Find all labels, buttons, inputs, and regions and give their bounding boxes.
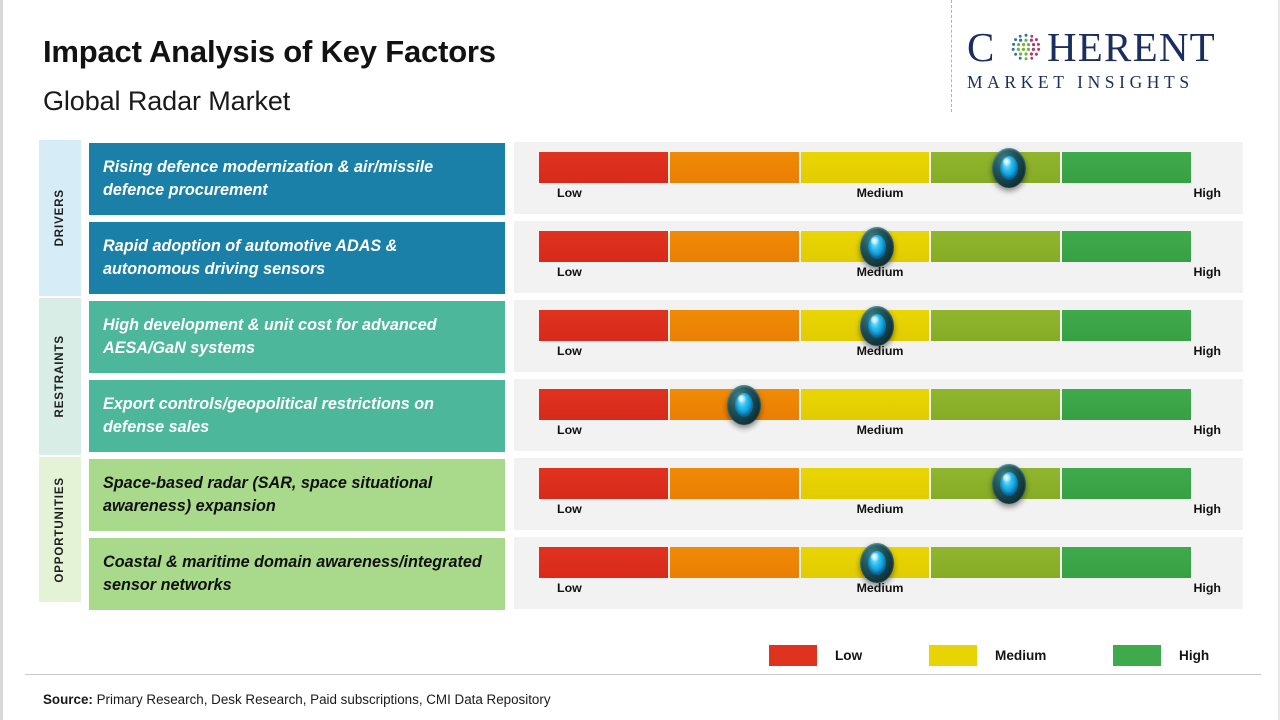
- header-dashed-divider: [951, 0, 952, 112]
- gauge-marker-icon[interactable]: [857, 227, 897, 267]
- gauge-marker-icon[interactable]: [857, 543, 897, 583]
- gauge-segment-4: [931, 547, 1060, 578]
- factor-box[interactable]: Space-based radar (SAR, space situationa…: [89, 459, 505, 531]
- slide-header: Impact Analysis of Key Factors Global Ra…: [3, 0, 1280, 128]
- gauge-label-medium: Medium: [857, 265, 904, 279]
- gauge-scale-labels: Low Medium High: [539, 265, 1221, 285]
- gauge-label-high: High: [1193, 502, 1221, 516]
- legend-swatch-low: [769, 645, 817, 666]
- page-subtitle: Global Radar Market: [43, 86, 290, 117]
- page-title: Impact Analysis of Key Factors: [43, 34, 496, 70]
- legend-item-low: Low: [769, 645, 862, 666]
- gauge-scale-labels: Low Medium High: [539, 344, 1221, 364]
- gauge-segment-1: [539, 310, 668, 341]
- gauge-label-high: High: [1193, 344, 1221, 358]
- gauge-segment-5: [1062, 547, 1191, 578]
- gauge-segment-5: [1062, 231, 1191, 262]
- slide-canvas: Impact Analysis of Key Factors Global Ra…: [0, 0, 1280, 720]
- gauge-label-medium: Medium: [857, 502, 904, 516]
- category-label-restraints: RESTRAINTS: [54, 335, 66, 417]
- gauge-segment-5: [1062, 389, 1191, 420]
- gauge-scale-labels: Low Medium High: [539, 423, 1221, 443]
- legend-label-high: High: [1179, 648, 1209, 663]
- gauge-segment-2: [670, 231, 799, 262]
- gauge-bar: [539, 389, 1191, 420]
- gauge-segment-1: [539, 231, 668, 262]
- gauge-segment-3: [801, 468, 930, 499]
- gauge-segment-4: [931, 310, 1060, 341]
- gauge-label-medium: Medium: [857, 423, 904, 437]
- gauge-panel[interactable]: Low Medium High: [514, 379, 1243, 451]
- legend-label-low: Low: [835, 648, 862, 663]
- logo-tagline: MARKET INSIGHTS: [967, 72, 1267, 93]
- gauge-label-medium: Medium: [857, 581, 904, 595]
- gauge-segment-5: [1062, 468, 1191, 499]
- category-strip-opportunities: OPPORTUNITIES: [39, 457, 81, 602]
- legend-item-high: High: [1113, 645, 1209, 666]
- gauge-marker-icon[interactable]: [724, 385, 764, 425]
- gauge-label-low: Low: [557, 186, 582, 200]
- impact-matrix: DRIVERS RESTRAINTS OPPORTUNITIES Rising …: [3, 140, 1280, 610]
- gauge-segment-2: [670, 152, 799, 183]
- factor-box[interactable]: Export controls/geopolitical restriction…: [89, 380, 505, 452]
- gauge-segment-4: [931, 389, 1060, 420]
- legend-swatch-high: [1113, 645, 1161, 666]
- company-logo: C HERENT MARKET INSIGHTS: [965, 22, 1265, 102]
- factor-box[interactable]: Rapid adoption of automotive ADAS & auto…: [89, 222, 505, 294]
- gauge-label-high: High: [1193, 265, 1221, 279]
- legend-swatch-medium: [929, 645, 977, 666]
- source-label: Source:: [43, 692, 93, 707]
- logo-word-rest: HERENT: [1047, 22, 1216, 72]
- category-label-drivers: DRIVERS: [54, 189, 66, 246]
- category-strip-restraints: RESTRAINTS: [39, 298, 81, 455]
- dotted-globe-icon: [1009, 31, 1043, 65]
- gauge-marker-icon[interactable]: [989, 148, 1029, 188]
- category-strip-drivers: DRIVERS: [39, 140, 81, 296]
- gauge-label-low: Low: [557, 265, 582, 279]
- gauge-label-medium: Medium: [857, 186, 904, 200]
- factor-box[interactable]: Rising defence modernization & air/missi…: [89, 143, 505, 215]
- gauge-label-low: Low: [557, 344, 582, 358]
- gauge-panel[interactable]: Low Medium High: [514, 458, 1243, 530]
- category-label-opportunities: OPPORTUNITIES: [54, 477, 66, 583]
- gauge-segment-5: [1062, 310, 1191, 341]
- factor-box[interactable]: High development & unit cost for advance…: [89, 301, 505, 373]
- gauge-segment-2: [670, 547, 799, 578]
- gauge-label-medium: Medium: [857, 344, 904, 358]
- source-note: Source: Primary Research, Desk Research,…: [43, 692, 551, 707]
- gauge-panel[interactable]: Low Medium High: [514, 537, 1243, 609]
- gauge-panel[interactable]: Low Medium High: [514, 300, 1243, 372]
- gauge-label-high: High: [1193, 186, 1221, 200]
- legend-item-medium: Medium: [929, 645, 1046, 666]
- gauge-segment-2: [670, 468, 799, 499]
- gauge-label-low: Low: [557, 581, 582, 595]
- gauge-scale-labels: Low Medium High: [539, 581, 1221, 601]
- gauge-label-low: Low: [557, 423, 582, 437]
- gauge-segment-1: [539, 547, 668, 578]
- gauge-bar: [539, 152, 1191, 183]
- gauge-segment-1: [539, 152, 668, 183]
- gauge-segment-1: [539, 468, 668, 499]
- logo-letter-c: C: [967, 22, 996, 72]
- chart-legend: Low Medium High: [763, 645, 1233, 669]
- gauge-segment-4: [931, 231, 1060, 262]
- gauge-segment-1: [539, 389, 668, 420]
- factor-box[interactable]: Coastal & maritime domain awareness/inte…: [89, 538, 505, 610]
- source-text: Primary Research, Desk Research, Paid su…: [93, 692, 551, 707]
- gauge-scale-labels: Low Medium High: [539, 186, 1221, 206]
- gauge-segment-3: [801, 152, 930, 183]
- gauge-panel[interactable]: Low Medium High: [514, 142, 1243, 214]
- gauge-segment-2: [670, 310, 799, 341]
- legend-label-medium: Medium: [995, 648, 1046, 663]
- gauge-label-high: High: [1193, 423, 1221, 437]
- gauge-scale-labels: Low Medium High: [539, 502, 1221, 522]
- gauge-marker-icon[interactable]: [857, 306, 897, 346]
- gauge-label-high: High: [1193, 581, 1221, 595]
- gauge-bar: [539, 468, 1191, 499]
- gauge-panel[interactable]: Low Medium High: [514, 221, 1243, 293]
- gauge-segment-3: [801, 389, 930, 420]
- gauge-marker-icon[interactable]: [989, 464, 1029, 504]
- footer-divider: [25, 674, 1261, 675]
- gauge-label-low: Low: [557, 502, 582, 516]
- gauge-segment-5: [1062, 152, 1191, 183]
